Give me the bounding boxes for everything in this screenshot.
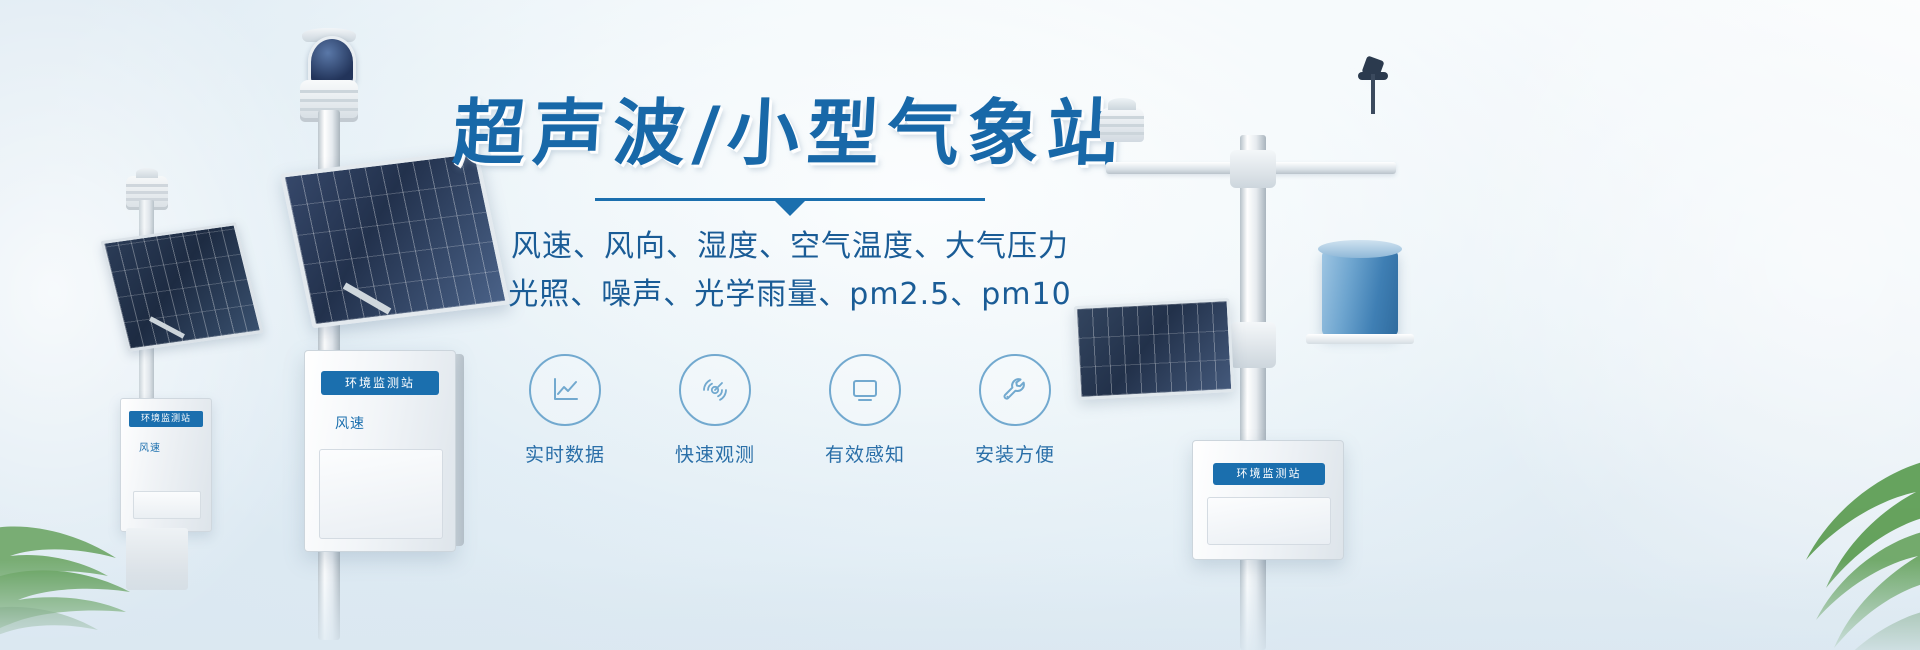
feature-item-realtime-data[interactable]: 实时数据 (520, 354, 610, 467)
title-divider (595, 198, 985, 201)
feature-item-fast-observation[interactable]: 快速观测 (670, 354, 760, 467)
product-photo-station-small: 环境监测站 风速 (108, 170, 288, 590)
cabinet-label-small: 环境监测站 (129, 411, 203, 427)
cabinet-label-right: 环境监测站 (1213, 463, 1325, 485)
mast-clamp-upper (1230, 150, 1276, 188)
product-photo-station-right: 环境监测站 (1070, 50, 1430, 650)
feature-label: 实时数据 (520, 440, 610, 467)
solar-panel-right (1074, 298, 1235, 400)
monitor-icon (829, 354, 901, 426)
feature-label: 快速观测 (670, 440, 760, 467)
page-title: 超声波/小型气象站 (428, 96, 1152, 172)
mast-clamp-lower (1230, 322, 1276, 368)
feature-label: 安装方便 (970, 440, 1060, 467)
subtitle-block: 风速、风向、湿度、空气温度、大气压力 光照、噪声、光学雨量、pm2.5、pm10 (430, 223, 1150, 320)
brand-logo-small: 风速 (139, 439, 161, 454)
mast-pole-right (1240, 135, 1266, 650)
feature-item-effective-sensing[interactable]: 有效感知 (820, 354, 910, 467)
control-cabinet-right: 环境监测站 (1192, 440, 1344, 560)
feature-list: 实时数据 快速观测 (430, 354, 1150, 467)
wrench-icon (979, 354, 1051, 426)
caret-down-icon (775, 201, 805, 216)
banner-copy-block: 超声波/小型气象站 风速、风向、湿度、空气温度、大气压力 光照、噪声、光学雨量、… (430, 96, 1150, 467)
ultrasonic-sensor-head-right (1100, 108, 1144, 142)
feature-item-easy-installation[interactable]: 安装方便 (970, 354, 1060, 467)
cabinet-door-large (319, 449, 443, 539)
control-cabinet-small: 环境监测站 风速 (120, 398, 212, 532)
cabinet-door-right (1207, 497, 1331, 545)
product-banner: 环境监测站 风速 环境监测站 风速 超声波/小型气象站 风速、风向、湿度、空气温… (0, 0, 1920, 650)
feature-label: 有效感知 (820, 440, 910, 467)
subtitle-line-1: 风速、风向、湿度、空气温度、大气压力 (430, 223, 1150, 272)
wind-vane-icon (1358, 58, 1388, 118)
rain-gauge-icon (1322, 250, 1398, 336)
subtitle-line-2: 光照、噪声、光学雨量、pm2.5、pm10 (430, 271, 1150, 320)
rain-gauge-shelf (1306, 334, 1414, 344)
brand-logo-large: 风速 (335, 413, 365, 433)
cabinet-base-small (126, 528, 188, 590)
line-chart-icon (529, 354, 601, 426)
cabinet-label-large: 环境监测站 (321, 371, 439, 395)
radar-scan-icon (679, 354, 751, 426)
cabinet-vent-small (133, 491, 201, 519)
